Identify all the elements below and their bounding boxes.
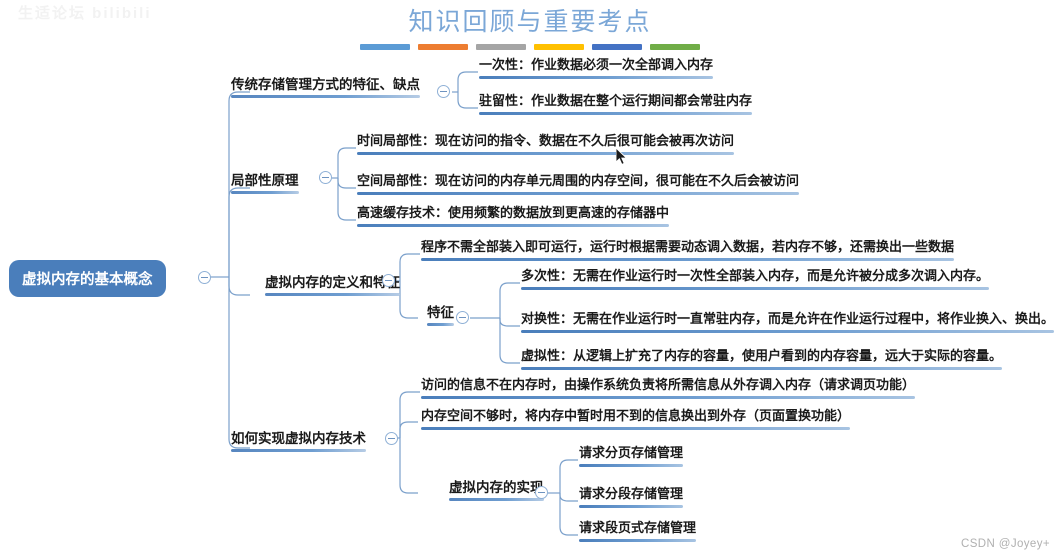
node-underline [421, 258, 954, 261]
leaf-label: 多次性：无需在作业运行时一次性全部装入内存，而是允许被分成多次调入内存。 [521, 269, 989, 284]
leaf-node-temporal-locality[interactable]: 时间局部性：现在访问的指令、数据在不久后很可能会被再次访问 [354, 134, 737, 158]
page-title: 知识回顾与重要考点 [0, 2, 1060, 38]
leaf-label: 对换性：无需在作业运行时一直常驻内存，而是允许在作业运行过程中，将作业换入、换出… [521, 312, 1054, 327]
mindmap-canvas: 生适论坛 bilibili CSDN @Joyey+ 知识回顾与重要考点 [0, 0, 1060, 556]
leaf-label: 一次性：作业数据必须一次全部调入内存 [479, 58, 713, 73]
leaf-node-spatial-locality[interactable]: 空间局部性：现在访问的内存单元周围的内存空间，很可能在不久后会被访问 [354, 174, 802, 198]
accent-bar-4 [534, 44, 584, 50]
leaf-label: 程序不需全部装入即可运行，运行时根据需要动态调入数据，若内存不够，还需换出一些数… [421, 240, 954, 255]
collapse-toggle-traditional-memory[interactable] [437, 85, 450, 98]
leaf-node-demand-paging-mgmt[interactable]: 请求分页存储管理 [576, 446, 686, 470]
node-underline [579, 539, 696, 542]
node-underline [265, 293, 400, 296]
leaf-label: 请求分段存储管理 [579, 487, 683, 502]
leaf-label: 高速缓存技术：使用频繁的数据放到更高速的存储器中 [357, 206, 669, 221]
node-underline [521, 367, 1002, 370]
collapse-toggle-how-to-implement[interactable] [385, 432, 398, 445]
leaf-label: 访问的信息不在内存时，由操作系统负责将所需信息从外存调入内存（请求调页功能） [421, 378, 915, 393]
branch-node-traditional-memory[interactable]: 传统存储管理方式的特征、缺点 [228, 77, 423, 101]
collapse-toggle-vm-realization[interactable] [535, 486, 548, 499]
leaf-label: 驻留性：作业数据在整个运行期间都会常驻内存 [479, 94, 752, 109]
collapse-toggle-locality-principle[interactable] [319, 171, 332, 184]
node-underline [357, 224, 669, 227]
leaf-node-virtuality[interactable]: 虚拟性：从逻辑上扩充了内存的容量，使用户看到的内存容量，远大于实际的容量。 [518, 349, 1005, 373]
accent-bar-3 [476, 44, 526, 50]
collapse-toggle-vm-definition[interactable] [382, 274, 395, 287]
leaf-label: 请求段页式存储管理 [579, 521, 696, 536]
node-underline [479, 112, 752, 115]
leaf-node-multiple-loading[interactable]: 多次性：无需在作业运行时一次性全部装入内存，而是允许被分成多次调入内存。 [518, 269, 992, 293]
branch-node-how-to-implement[interactable]: 如何实现虚拟内存技术 [228, 431, 369, 455]
branch-label: 传统存储管理方式的特征、缺点 [231, 77, 420, 93]
node-underline [231, 191, 299, 194]
branch-label: 局部性原理 [231, 173, 299, 189]
node-underline [231, 95, 420, 98]
leaf-label: 虚拟性：从逻辑上扩充了内存的容量，使用户看到的内存容量，远大于实际的容量。 [521, 349, 1002, 364]
node-underline [479, 76, 713, 79]
branch-node-locality-principle[interactable]: 局部性原理 [228, 173, 302, 197]
leaf-label: 内存空间不够时，将内存中暂时用不到的信息换出到外存（页面置换功能） [421, 409, 850, 424]
leaf-node-demand-segmented-paging-mgmt[interactable]: 请求段页式存储管理 [576, 521, 699, 545]
node-underline [357, 152, 734, 155]
node-underline [357, 192, 799, 195]
node-underline [421, 427, 850, 430]
mouse-cursor [616, 148, 628, 166]
leaf-label: 空间局部性：现在访问的内存单元周围的内存空间，很可能在不久后会被访问 [357, 174, 799, 189]
branch-label: 虚拟内存的实现 [449, 480, 544, 496]
accent-bar-6 [650, 44, 700, 50]
leaf-node-one-time[interactable]: 一次性：作业数据必须一次全部调入内存 [476, 58, 716, 82]
node-underline [449, 498, 544, 501]
leaf-node-demand-segmentation-mgmt[interactable]: 请求分段存储管理 [576, 487, 686, 511]
node-underline [579, 464, 683, 467]
title-accent-bars [360, 44, 700, 51]
leaf-node-residency[interactable]: 驻留性：作业数据在整个运行期间都会常驻内存 [476, 94, 755, 118]
node-underline [427, 323, 454, 326]
branch-node-features[interactable]: 特征 [424, 305, 457, 329]
leaf-node-demand-paging[interactable]: 访问的信息不在内存时，由操作系统负责将所需信息从外存调入内存（请求调页功能） [418, 378, 918, 402]
leaf-node-page-replacement[interactable]: 内存空间不够时，将内存中暂时用不到的信息换出到外存（页面置换功能） [418, 409, 853, 433]
leaf-label: 请求分页存储管理 [579, 446, 683, 461]
leaf-node-swapping[interactable]: 对换性：无需在作业运行时一直常驻内存，而是允许在作业运行过程中，将作业换入、换出… [518, 312, 1057, 336]
node-underline [521, 287, 989, 290]
accent-bar-5 [592, 44, 642, 50]
branch-label: 如何实现虚拟内存技术 [231, 431, 366, 447]
branch-node-vm-realization[interactable]: 虚拟内存的实现 [446, 480, 547, 504]
root-collapse-toggle[interactable] [198, 271, 211, 284]
root-node[interactable]: 虚拟内存的基本概念 [10, 261, 165, 296]
leaf-node-partial-load[interactable]: 程序不需全部装入即可运行，运行时根据需要动态调入数据，若内存不够，还需换出一些数… [418, 240, 957, 264]
node-underline [579, 505, 683, 508]
node-underline [521, 330, 1054, 333]
branch-label: 虚拟内存的定义和特征 [265, 275, 400, 291]
leaf-node-cache-technology[interactable]: 高速缓存技术：使用频繁的数据放到更高速的存储器中 [354, 206, 672, 230]
csdn-watermark: CSDN @Joyey+ [961, 538, 1050, 550]
node-underline [421, 396, 915, 399]
accent-bar-2 [418, 44, 468, 50]
accent-bar-1 [360, 44, 410, 50]
branch-label: 特征 [427, 305, 454, 321]
leaf-label: 时间局部性：现在访问的指令、数据在不久后很可能会被再次访问 [357, 134, 734, 149]
node-underline [231, 449, 366, 452]
collapse-toggle-features[interactable] [456, 311, 469, 324]
